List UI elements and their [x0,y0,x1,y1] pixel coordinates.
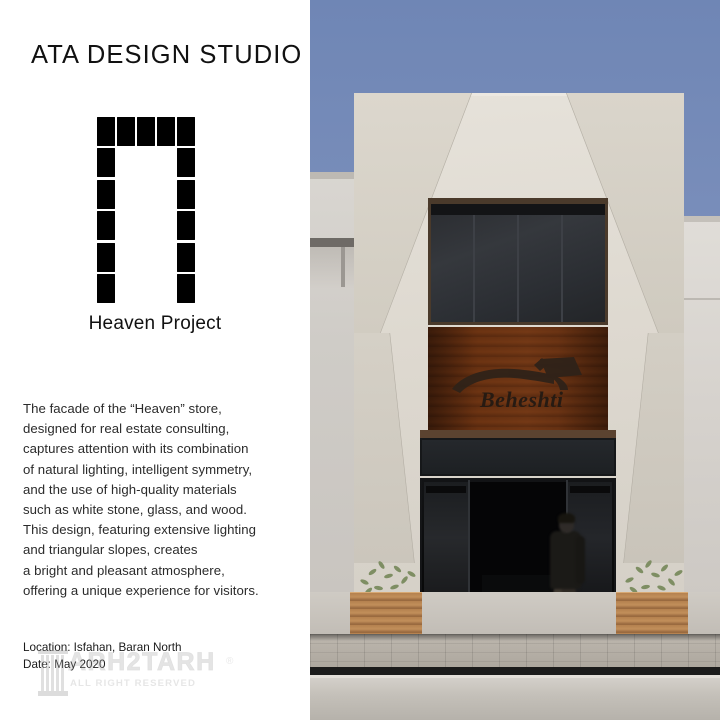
concrete-plinth [310,675,720,720]
logo-block [97,243,115,272]
description-line: and triangular slopes, creates [23,540,291,560]
leaf [674,569,684,577]
logo-block [97,274,115,303]
leaf [651,572,661,579]
logo-gap [117,243,135,272]
description-line: designed for real estate consulting, [23,419,291,439]
logo-gap [137,211,155,240]
entrance-header-strip [570,486,610,493]
logo-gap [117,148,135,177]
logo-block [157,117,175,146]
entrance-glass-panel-left [424,482,468,606]
logo-gap [117,211,135,240]
leaf [377,560,385,570]
description-line: The facade of the “Heaven” store, [23,399,291,419]
logo-block [137,117,155,146]
logo-gap [137,243,155,272]
logo-block [97,117,115,146]
shopfront-transom-glass [420,438,616,476]
meta-location: Location: Isfahan, Baran North [23,640,182,657]
pedestrian-arm [576,536,585,584]
poster-canvas: ATA DESIGN STUDIO [0,0,720,720]
leaf [390,584,400,591]
upper-mullion [473,215,475,322]
logo-gap [117,180,135,209]
timber-planter-left [350,592,422,635]
leaf [625,576,635,583]
leaf [641,584,651,590]
description-line: such as white stone, glass, and wood. [23,500,291,520]
description-line: This design, featuring extensive lightin… [23,520,291,540]
logo-block [97,148,115,177]
watermark-tagline: ALL RIGHT RESERVED [70,678,196,689]
logo-gap [117,274,135,303]
studio-title: ATA DESIGN STUDIO [31,41,302,70]
description-line: a bright and pleasant atmosphere, [23,561,291,581]
leaf [384,573,394,579]
logo-block [177,148,195,177]
shrub-right [616,558,688,596]
logo-block [97,211,115,240]
plinth-top-edge [310,675,720,678]
description-line: of natural lighting, intelligent symmetr… [23,460,291,480]
shopfront-lintel [420,430,616,438]
logo-gap [157,180,175,209]
leaf [635,566,645,575]
meta-date: Date: May 2020 [23,657,182,674]
registered-mark-icon: ® [226,656,233,667]
logo-block [177,211,195,240]
pedestrian-hair [558,513,575,523]
wooden-sign-band [428,327,608,430]
project-name: Heaven Project [0,313,310,335]
facade-photograph: Beheshti [310,0,720,720]
project-description: The facade of the “Heaven” store, design… [23,399,291,601]
leaf [374,585,384,591]
logo-gap [157,274,175,303]
logo-block [177,180,195,209]
leaf [644,559,653,569]
project-meta: Location: Isfahan, Baran North Date: May… [23,640,182,673]
logo-block [177,274,195,303]
leaf [393,565,402,574]
logo-gap [157,211,175,240]
logo-gap [157,243,175,272]
entrance-header-strip [426,486,466,493]
leaf [368,568,378,576]
leaf [660,563,669,572]
logo-block [97,180,115,209]
leaf [400,575,409,584]
logo-gap [157,148,175,177]
timber-planter-right [616,592,688,635]
leaf [360,578,370,585]
upper-glazing-header [431,204,605,215]
description-line: and the use of high-quality materials [23,480,291,500]
logo-gap [137,274,155,303]
description-line: offering a unique experience for visitor… [23,581,291,601]
leaf [667,577,676,586]
logo-block [117,117,135,146]
entrance-mullion [468,480,470,608]
upper-mullion [517,215,519,322]
upper-mullion [561,215,563,322]
leaf [657,584,667,591]
description-line: captures attention with its combination [23,439,291,459]
logo-gap [137,148,155,177]
column-base [38,691,68,696]
logo-block [177,117,195,146]
heaven-project-logo [97,117,195,303]
logo-block [177,243,195,272]
neighbour-left-mullion [341,247,345,287]
deck-shadow [310,634,720,641]
logo-gap [137,180,155,209]
info-panel: ATA DESIGN STUDIO [0,0,310,720]
shrub-left [350,558,422,596]
